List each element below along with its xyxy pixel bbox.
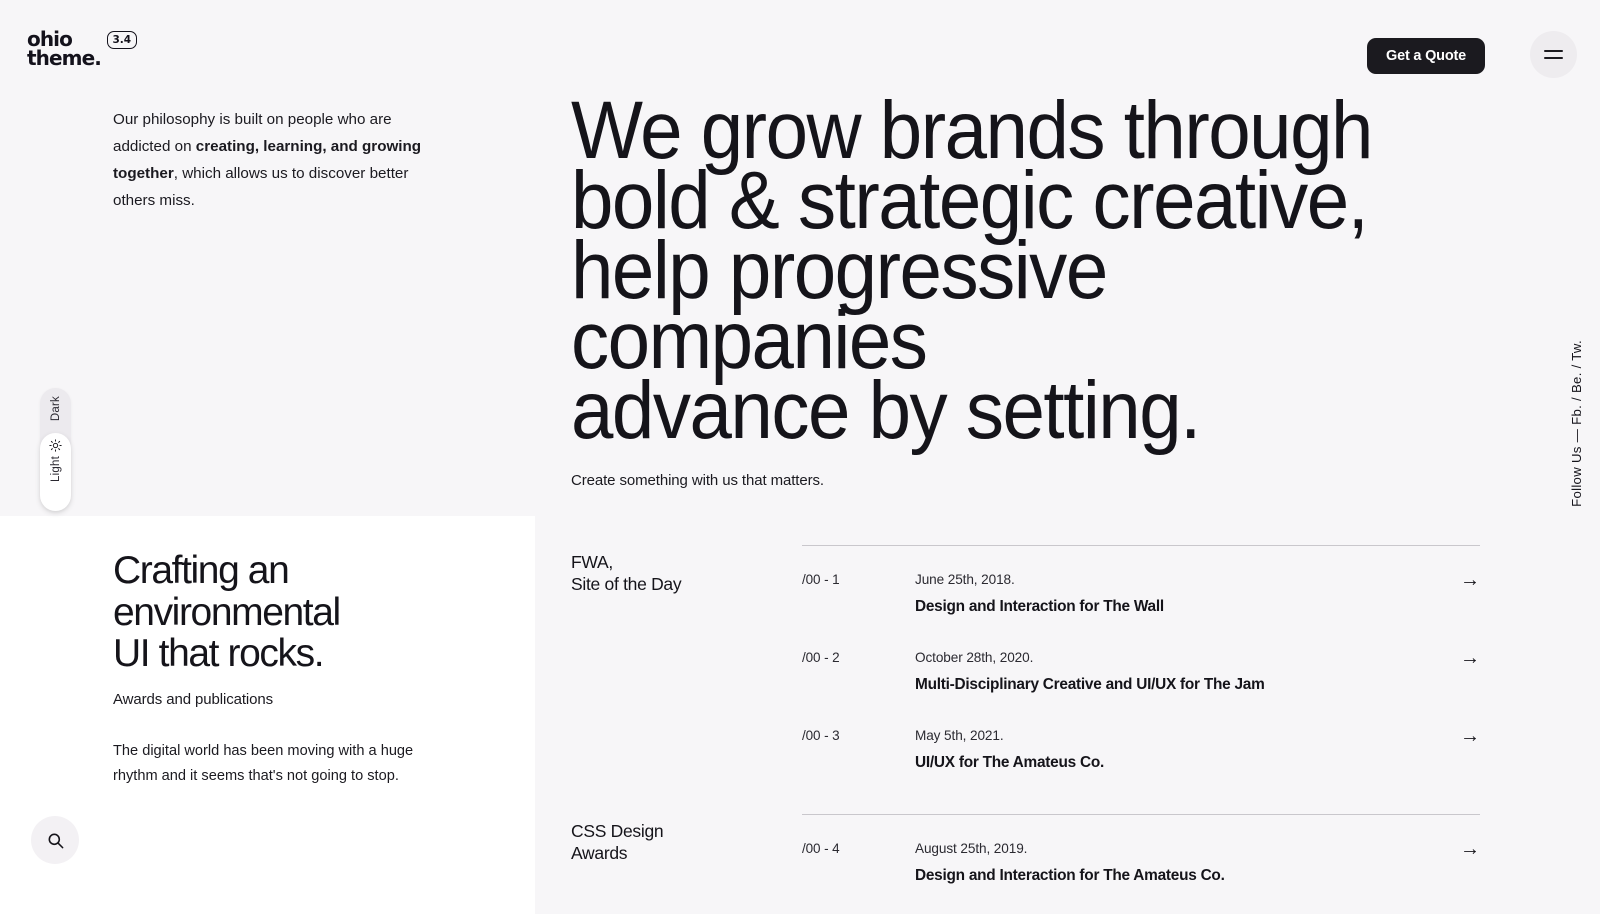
hero-section: We grow brands through bold & strategic … <box>571 96 1471 489</box>
awards-group: CSS Design Awards/00 - 4August 25th, 201… <box>571 814 1480 893</box>
awards-list: FWA, Site of the Day/00 - 1June 25th, 20… <box>571 545 1480 893</box>
hero-subtitle: Create something with us that matters. <box>571 472 1471 489</box>
award-row-index: /00 - 4 <box>802 841 915 856</box>
award-row-date: June 25th, 2018. <box>915 572 1440 587</box>
award-row-title: Multi-Disciplinary Creative and UI/UX fo… <box>915 676 1440 694</box>
social-follow-links[interactable]: Follow Us — Fb. / Be. / Tw. <box>1569 340 1584 507</box>
awards-group-rows: /00 - 1June 25th, 2018.Design and Intera… <box>802 545 1480 780</box>
award-row[interactable]: /00 - 2October 28th, 2020.Multi-Discipli… <box>802 624 1480 702</box>
award-row-index: /00 - 3 <box>802 728 915 743</box>
logo-version-badge: 3.4 <box>107 31 137 49</box>
award-row-main: August 25th, 2019.Design and Interaction… <box>915 841 1440 885</box>
arrow-right-icon[interactable]: → <box>1440 728 1480 744</box>
awards-group-spacer <box>571 780 1480 814</box>
hamburger-icon-line-top <box>1544 50 1563 52</box>
theme-toggle-dark-label[interactable]: Dark <box>50 396 62 421</box>
award-row-main: October 28th, 2020.Multi-Disciplinary Cr… <box>915 650 1440 694</box>
award-row-title: UI/UX for The Amateus Co. <box>915 754 1440 772</box>
theme-toggle-light-label[interactable]: Light <box>50 456 62 482</box>
arrow-right-icon[interactable]: → <box>1440 572 1480 588</box>
award-row-title: Design and Interaction for The Amateus C… <box>915 867 1440 885</box>
awards-group-rows: /00 - 4August 25th, 2019.Design and Inte… <box>802 814 1480 893</box>
site-logo[interactable]: ohio theme. 3.4 <box>27 30 137 68</box>
award-row-date: October 28th, 2020. <box>915 650 1440 665</box>
logo-wordmark: ohio theme. <box>27 30 101 68</box>
awards-intro-body: The digital world has been moving with a… <box>113 739 433 789</box>
search-button[interactable] <box>31 816 79 864</box>
award-row-main: May 5th, 2021.UI/UX for The Amateus Co. <box>915 728 1440 772</box>
awards-intro-kicker: Awards and publications <box>113 691 513 708</box>
hero-heading: We grow brands through bold & strategic … <box>571 96 1408 446</box>
theme-toggle[interactable]: Dark Light <box>40 388 71 511</box>
arrow-right-icon[interactable]: → <box>1440 841 1480 857</box>
award-row-date: August 25th, 2019. <box>915 841 1440 856</box>
arrow-right-icon[interactable]: → <box>1440 650 1480 666</box>
awards-group: FWA, Site of the Day/00 - 1June 25th, 20… <box>571 545 1480 780</box>
award-row[interactable]: /00 - 1June 25th, 2018.Design and Intera… <box>802 546 1480 624</box>
award-row-main: June 25th, 2018.Design and Interaction f… <box>915 572 1440 616</box>
award-row-date: May 5th, 2021. <box>915 728 1440 743</box>
awards-group-title: CSS Design Awards <box>571 814 802 893</box>
awards-intro-block: Crafting an environmental UI that rocks.… <box>113 550 513 789</box>
search-icon <box>46 831 65 850</box>
award-row[interactable]: /00 - 3May 5th, 2021.UI/UX for The Amate… <box>802 702 1480 780</box>
get-a-quote-button[interactable]: Get a Quote <box>1367 38 1485 74</box>
hamburger-icon-line-bottom <box>1544 57 1563 59</box>
award-row[interactable]: /00 - 4August 25th, 2019.Design and Inte… <box>802 815 1480 893</box>
philosophy-paragraph: Our philosophy is built on people who ar… <box>113 106 423 214</box>
theme-toggle-knob-light[interactable]: Light <box>40 433 71 511</box>
sun-icon <box>49 439 62 452</box>
menu-button[interactable] <box>1530 31 1577 78</box>
award-row-index: /00 - 2 <box>802 650 915 665</box>
awards-group-title: FWA, Site of the Day <box>571 545 802 780</box>
awards-intro-heading: Crafting an environmental UI that rocks. <box>113 550 513 675</box>
award-row-title: Design and Interaction for The Wall <box>915 598 1440 616</box>
award-row-index: /00 - 1 <box>802 572 915 587</box>
